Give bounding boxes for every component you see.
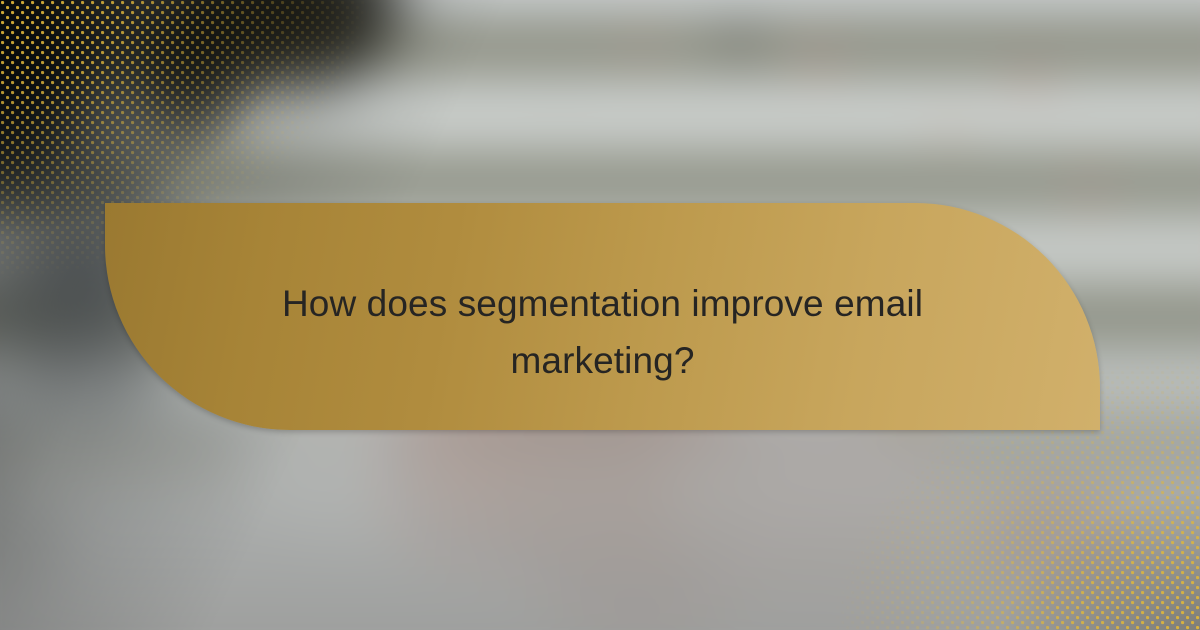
page-title: How does segmentation improve email mark… <box>105 275 1100 389</box>
share-card: How does segmentation improve email mark… <box>0 0 1200 630</box>
headline-banner: How does segmentation improve email mark… <box>105 203 1100 430</box>
